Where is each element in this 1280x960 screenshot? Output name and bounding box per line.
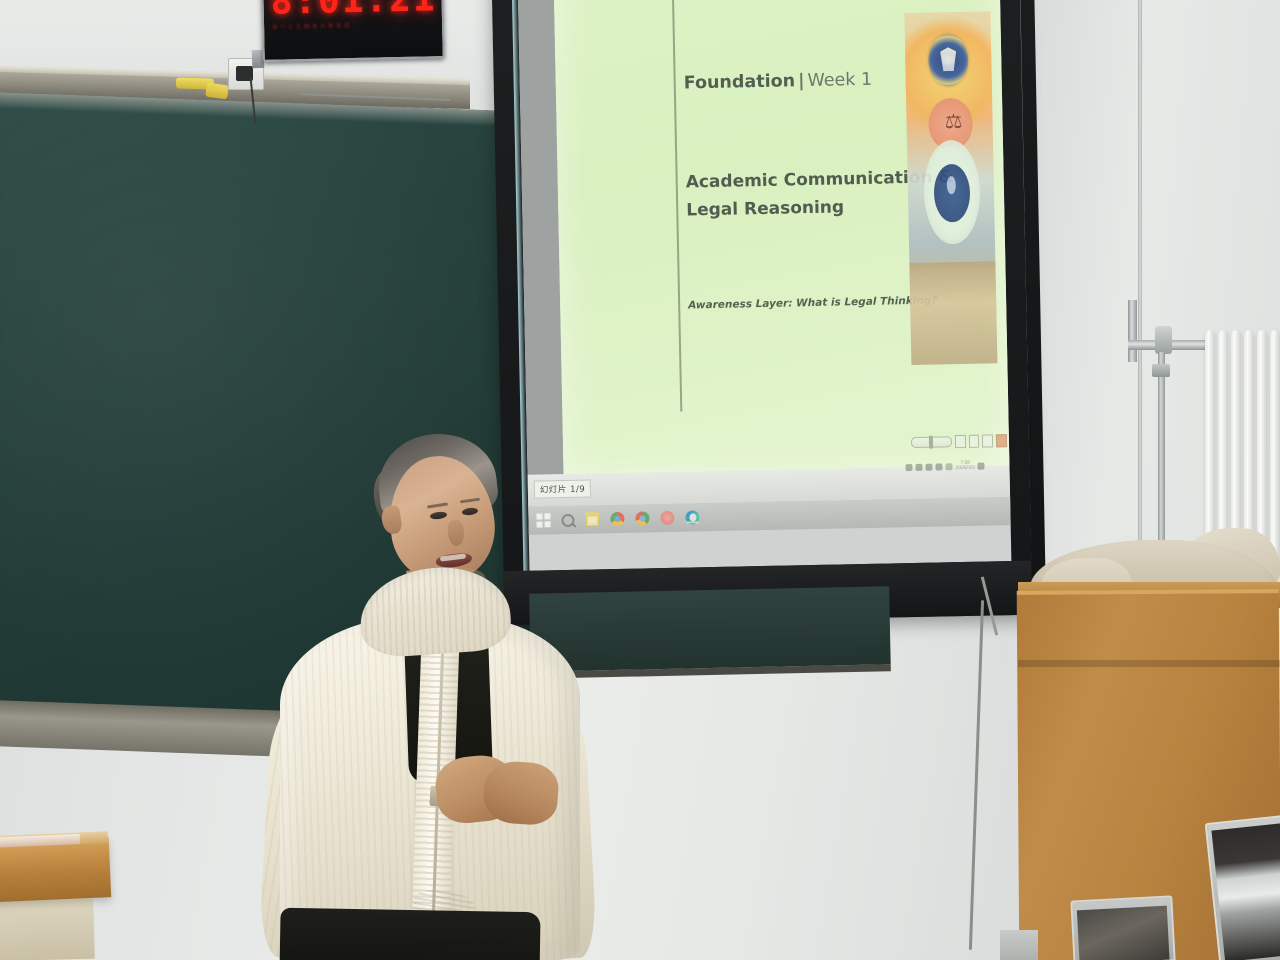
clock-ind-2: 二 (288, 23, 293, 30)
slide-divider: | (798, 71, 805, 91)
slide-week-label: Week 1 (807, 70, 872, 91)
system-tray[interactable]: 7:59 2025/3/3 (905, 457, 1009, 475)
sorter-view-button[interactable] (969, 434, 980, 447)
chevron-up-icon[interactable] (905, 464, 912, 471)
classroom-photo: 8:01:21 日 一 二 三 四 五 六 年 月 日 Legal Englis… (0, 0, 1280, 960)
tray-date-text: 2025/3/3 (955, 466, 975, 472)
edge-icon[interactable] (685, 510, 699, 524)
yellow-chalk-piece-2 (205, 83, 229, 100)
laptop-right-screen (1211, 822, 1280, 960)
slide-unit-week: Foundation|Week 1 (684, 70, 873, 94)
reading-view-button[interactable] (982, 434, 993, 447)
slide-unit-label: Foundation (684, 71, 796, 93)
heating-pipe-vertical (1128, 300, 1137, 362)
network-icon[interactable] (915, 463, 922, 470)
podium-edge (1018, 660, 1280, 667)
desk-box (0, 899, 95, 960)
clock-ind-1: 一 (280, 23, 285, 30)
notifications-icon[interactable] (978, 462, 985, 469)
shield-icon[interactable] (945, 463, 952, 470)
collar-rib-texture (357, 563, 513, 659)
clock-indicator-row: 日 一 二 三 四 五 六 年 月 日 (272, 18, 436, 32)
laptop-front-screen (1077, 906, 1170, 960)
logo-oval-icon (933, 164, 970, 223)
normal-view-button[interactable] (955, 434, 966, 447)
clock-ind-0: 日 (272, 24, 277, 31)
tray-clock[interactable]: 7:59 2025/3/3 (955, 460, 975, 471)
powerpoint-view-controls[interactable] (911, 431, 1007, 451)
clock-ind-8: 月 (336, 22, 341, 29)
clock-ind-9: 日 (344, 22, 349, 29)
app-icon[interactable] (660, 511, 674, 525)
clock-ind-6: 六 (320, 23, 325, 30)
zoom-slider[interactable] (911, 436, 952, 448)
ear (380, 505, 403, 535)
right-hand (482, 759, 560, 826)
water-background (909, 261, 997, 365)
clock-ind-3: 三 (296, 23, 301, 30)
volume-icon[interactable] (925, 463, 932, 470)
trousers (279, 908, 540, 960)
slide-canvas: Legal English Semester 2 Foundation|Week… (553, 0, 1010, 480)
clock-ind-4: 四 (304, 23, 309, 30)
slide-note: Awareness Layer: What is Legal Thinking? (688, 294, 938, 311)
clock-ind-5: 五 (312, 23, 317, 30)
active-indicator-edge (687, 521, 699, 523)
heating-pipe-drop (1158, 352, 1165, 552)
pipe-joint (1152, 364, 1170, 377)
slideshow-view-button[interactable] (996, 434, 1007, 447)
laptop-front[interactable] (1070, 895, 1175, 960)
slide-emblem-graphic: ⚖ (904, 11, 997, 365)
scales-of-justice-icon: ⚖ (944, 108, 957, 136)
instructor (240, 420, 620, 960)
clock-ind-7: 年 (328, 22, 333, 29)
chrome-icon-secondary[interactable] (635, 511, 649, 525)
input-method-icon[interactable] (935, 463, 942, 470)
digital-wall-clock: 8:01:21 日 一 二 三 四 五 六 年 月 日 (261, 0, 445, 62)
slide-accent-line (671, 0, 683, 412)
radiator-fin (1270, 330, 1280, 570)
pipe-valve (1155, 326, 1172, 354)
wall-base-trim (1000, 930, 1038, 960)
laptop-right[interactable] (1205, 813, 1280, 960)
